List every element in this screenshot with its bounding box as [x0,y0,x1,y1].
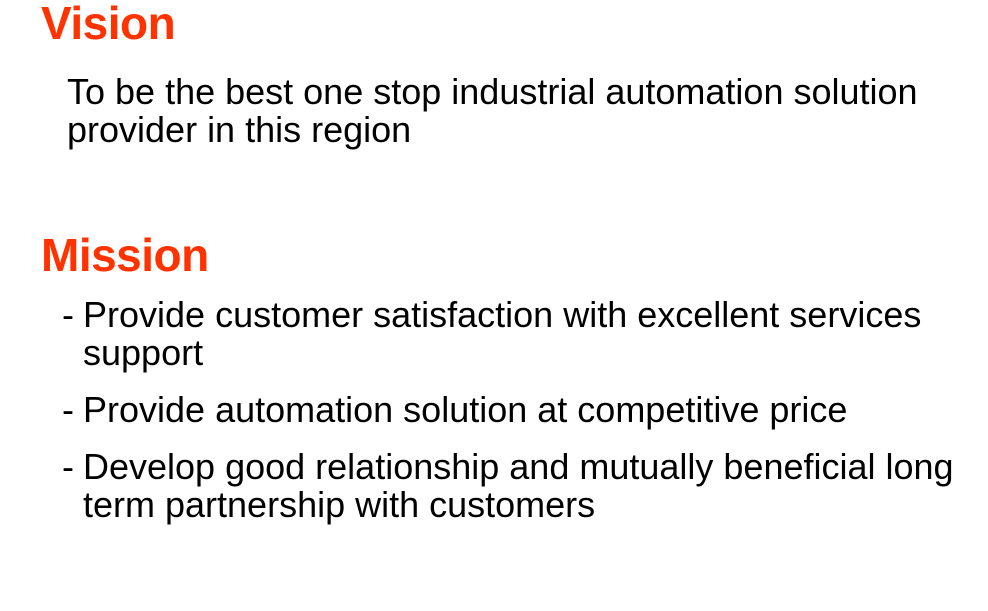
list-item-text: Provide automation solution at competiti… [83,391,977,429]
mission-section-heading: Mission [41,232,209,278]
mission-bullet-list: - Provide customer satisfaction with exc… [62,296,977,524]
list-item-text: Develop good relationship and mutually b… [83,448,977,524]
presentation-slide: Vision To be the best one stop industria… [0,0,988,611]
list-item: - Provide automation solution at competi… [62,391,977,429]
bullet-dash-icon: - [62,391,74,429]
list-item-line: term partnership with customers [83,486,977,524]
list-item-text: Provide customer satisfaction with excel… [83,296,977,372]
list-item: - Develop good relationship and mutually… [62,448,977,524]
list-item-line: Provide customer satisfaction with excel… [83,296,977,334]
list-item: - Provide customer satisfaction with exc… [62,296,977,372]
list-item-line: Develop good relationship and mutually b… [83,448,977,486]
vision-section-heading: Vision [41,0,175,46]
vision-paragraph: To be the best one stop industrial autom… [67,73,967,149]
vision-paragraph-line: To be the best one stop industrial autom… [67,73,967,111]
vision-paragraph-line: provider in this region [67,111,967,149]
list-item-line: Provide automation solution at competiti… [83,391,977,429]
list-item-line: support [83,334,977,372]
bullet-dash-icon: - [62,296,74,334]
bullet-dash-icon: - [62,448,74,486]
